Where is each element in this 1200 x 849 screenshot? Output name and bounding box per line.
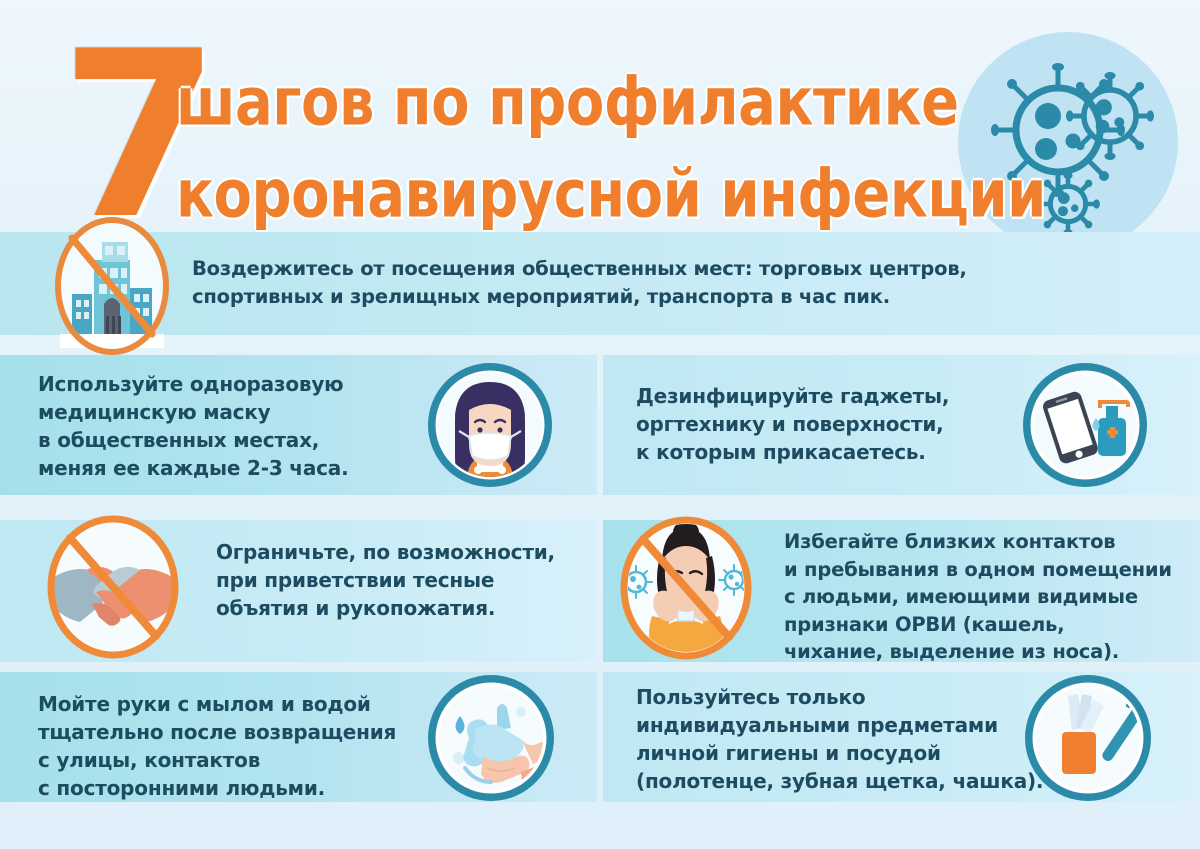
step-3-line-3: к которым прикасаетесь. <box>636 438 949 466</box>
step-3-text: Дезинфицируйте гаджеты, оргтехнику и пов… <box>636 382 949 466</box>
no-handshake-icon <box>38 512 188 662</box>
step-7-line-1: Пользуйтесь только <box>636 683 1043 711</box>
step-1-text: Воздержитесь от посещения общественных м… <box>192 255 967 311</box>
step-7-line-2: индивидуальными предметами <box>636 711 1043 739</box>
step-7-text: Пользуйтесь только индивидуальными предм… <box>636 683 1043 795</box>
infographic-poster: 7 шагов по профилактике коронавирусной и… <box>0 0 1200 849</box>
step-2-line-4: меняя ее каждые 2-3 часа. <box>38 454 348 482</box>
title-line-2: коронавирусной инфекции <box>176 154 996 232</box>
poster-header: 7 шагов по профилактике коронавирусной и… <box>0 0 1200 232</box>
step-3-line-1: Дезинфицируйте гаджеты, <box>636 382 949 410</box>
personal-hygiene-items-icon <box>1022 672 1154 804</box>
step-2-line-1: Используйте одноразовую <box>38 370 348 398</box>
no-close-contact-sneezing-icon <box>610 512 762 664</box>
no-public-places-icon <box>42 216 182 356</box>
step-4-line-1: Ограничьте, по возможности, <box>216 538 555 566</box>
step-2-line-2: медицинскую маску <box>38 398 348 426</box>
step-6-line-2: тщательно после возвращения <box>38 718 396 746</box>
step-6-line-3: с улицы, контактов <box>38 746 396 774</box>
step-5-line-4: признаки ОРВИ (кашель, <box>784 611 1172 639</box>
step-7-line-3: личной гигиены и посудой <box>636 739 1043 767</box>
step-4-line-3: объятия и рукопожатия. <box>216 594 555 622</box>
step-2-line-3: в общественных местах, <box>38 426 348 454</box>
poster-title: шагов по профилактике коронавирусной инф… <box>176 62 996 224</box>
step-5-text: Избегайте близких контактов и пребывания… <box>784 528 1172 666</box>
title-line-1: шагов по профилактике <box>176 62 996 145</box>
step-3-line-2: оргтехнику и поверхности, <box>636 410 949 438</box>
step-6-line-4: с посторонними людьми. <box>38 774 396 802</box>
step-5-line-2: и пребывания в одном помещении <box>784 556 1172 584</box>
woman-wearing-mask-icon <box>425 360 555 490</box>
step-5-line-5: чихание, выделение из носа). <box>784 638 1172 666</box>
step-2-text: Используйте одноразовую медицинскую маск… <box>38 370 348 482</box>
step-4-line-2: при приветствии тесные <box>216 566 555 594</box>
step-1-line-2: спортивных и зрелищных мероприятий, тран… <box>192 283 967 311</box>
step-4-text: Ограничьте, по возможности, при приветст… <box>216 538 555 622</box>
wash-hands-icon <box>425 672 557 804</box>
step-1-line-1: Воздержитесь от посещения общественных м… <box>192 255 967 283</box>
step-6-text: Мойте руки с мылом и водой тщательно пос… <box>38 690 396 802</box>
phone-sanitizer-icon <box>1020 360 1150 490</box>
step-5-line-3: с людьми, имеющими видимые <box>784 583 1172 611</box>
step-5-line-1: Избегайте близких контактов <box>784 528 1172 556</box>
step-6-line-1: Мойте руки с мылом и водой <box>38 690 396 718</box>
step-7-line-4: (полотенце, зубная щетка, чашка). <box>636 767 1043 795</box>
